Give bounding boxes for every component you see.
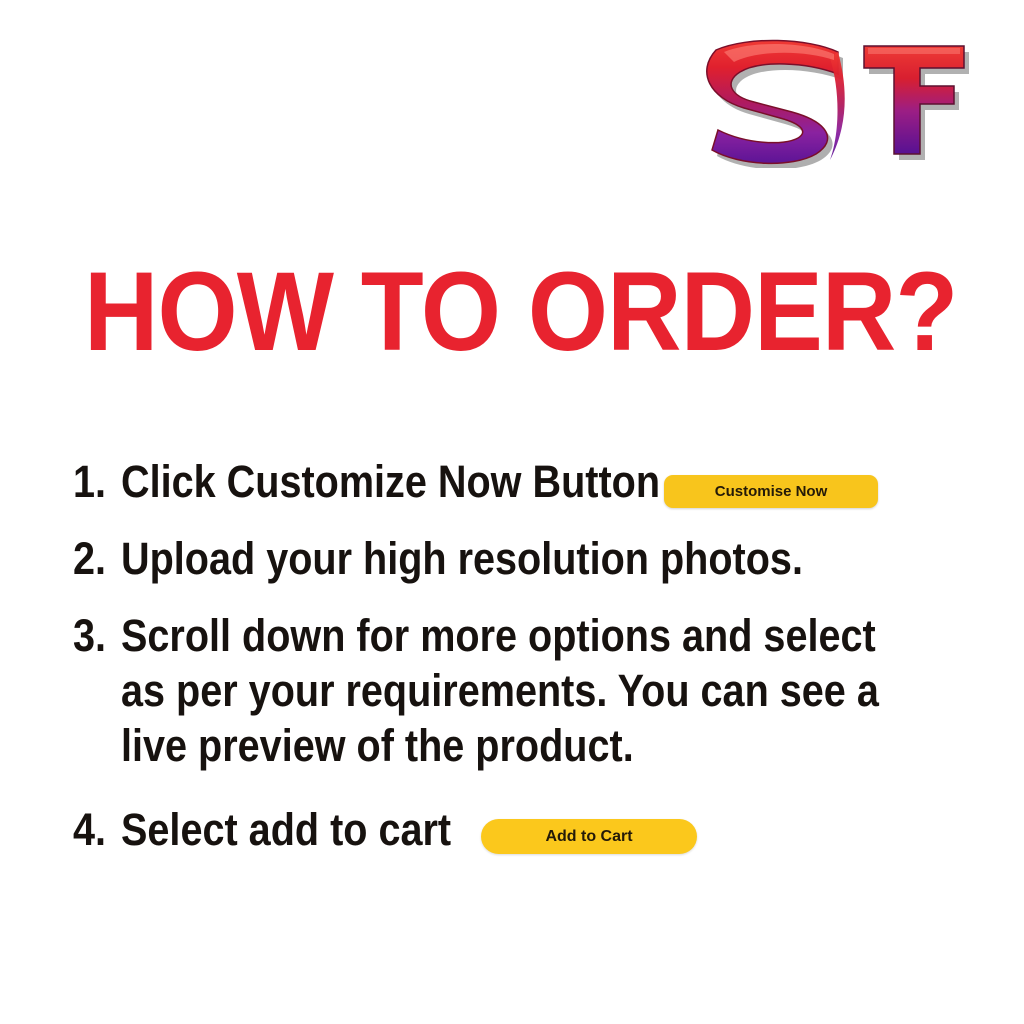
page-title: HOW TO ORDER? [84,256,875,368]
step-number-4: 4. [73,803,115,858]
step-item-3: 3. Scroll down for more options and sele… [73,609,953,774]
step-number-2: 2. [73,532,115,587]
step-number-1: 1. [73,455,115,510]
infographic-canvas: HOW TO ORDER? 1. Click Customize Now But… [0,0,1024,1024]
step-item-2: 2. Upload your high resolution photos. [73,532,953,587]
how-to-order-steps: 1. Click Customize Now Button 2. Upload … [73,455,953,874]
step-text-3-line-1: Scroll down for more options and select [121,609,879,664]
customise-now-button[interactable]: Customise Now [664,475,878,508]
add-to-cart-button[interactable]: Add to Cart [481,819,697,854]
sf-monogram-logo [688,28,984,168]
step-text-3-line-2: as per your requirements. You can see a [121,664,879,719]
step-number-3: 3. [73,609,115,664]
step-text-3-line-3: live preview of the product. [121,719,879,774]
step-text-2: Upload your high resolution photos. [121,532,853,587]
